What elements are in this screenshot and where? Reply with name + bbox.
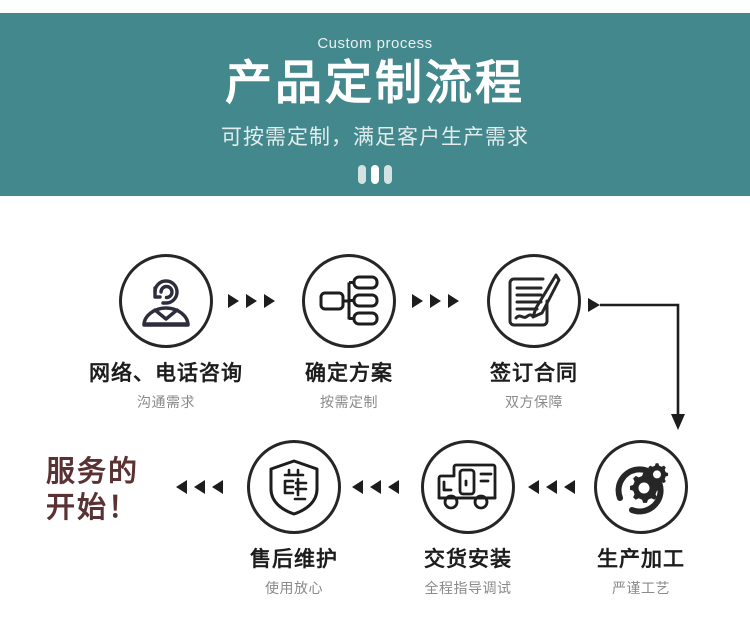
triangle-right-icon <box>228 294 239 308</box>
custom-process-infographic: Custom process 产品定制流程 可按需定制，满足客户生产需求 <box>0 0 750 630</box>
flowchart-icon <box>302 254 396 348</box>
shield-service-icon <box>247 440 341 534</box>
step-title: 生产加工 <box>556 548 726 572</box>
start-badge-line-2: 开始！ <box>46 490 139 526</box>
step-subtitle: 使用放心 <box>209 578 379 598</box>
gears-icon <box>594 440 688 534</box>
triangle-right-icon <box>246 294 257 308</box>
decorative-dots <box>0 165 750 184</box>
step-title: 交货安装 <box>383 548 553 572</box>
flow-connector-elbow <box>588 292 698 432</box>
triangle-left-icon <box>352 480 363 494</box>
step-title: 网络、电话咨询 <box>81 362 251 386</box>
dot-2 <box>371 165 379 184</box>
triangle-right-icon <box>412 294 423 308</box>
header-banner: Custom process 产品定制流程 可按需定制，满足客户生产需求 <box>0 13 750 196</box>
triangle-left-icon <box>528 480 539 494</box>
contract-sign-icon <box>487 254 581 348</box>
step-subtitle: 全程指导调试 <box>383 578 553 598</box>
flow-step-after-sales[interactable]: 售后维护 使用放心 <box>209 440 379 598</box>
step-title: 售后维护 <box>209 548 379 572</box>
headset-person-icon <box>119 254 213 348</box>
flow-step-plan[interactable]: 确定方案 按需定制 <box>264 254 434 412</box>
flow-step-production[interactable]: 生产加工 严谨工艺 <box>556 440 726 598</box>
delivery-truck-icon <box>421 440 515 534</box>
process-flow: 网络、电话咨询 沟通需求 确定方案 按需定制 <box>0 196 750 630</box>
step-subtitle: 严谨工艺 <box>556 578 726 598</box>
banner-subtitle: 可按需定制，满足客户生产需求 <box>0 121 750 151</box>
dot-1 <box>358 165 366 184</box>
step-title: 确定方案 <box>264 362 434 386</box>
triangle-left-icon <box>370 480 381 494</box>
start-badge: 服务的 开始！ <box>46 454 139 526</box>
flow-step-delivery[interactable]: 交货安装 全程指导调试 <box>383 440 553 598</box>
page-title: 产品定制流程 <box>0 55 750 111</box>
triangle-left-icon <box>194 480 205 494</box>
flow-step-consultation[interactable]: 网络、电话咨询 沟通需求 <box>81 254 251 412</box>
banner-eyebrow: Custom process <box>0 35 750 52</box>
dot-3 <box>384 165 392 184</box>
step-subtitle: 沟通需求 <box>81 392 251 412</box>
start-badge-line-1: 服务的 <box>46 454 139 490</box>
step-subtitle: 按需定制 <box>264 392 434 412</box>
triangle-left-icon <box>176 480 187 494</box>
triangle-right-icon <box>430 294 441 308</box>
